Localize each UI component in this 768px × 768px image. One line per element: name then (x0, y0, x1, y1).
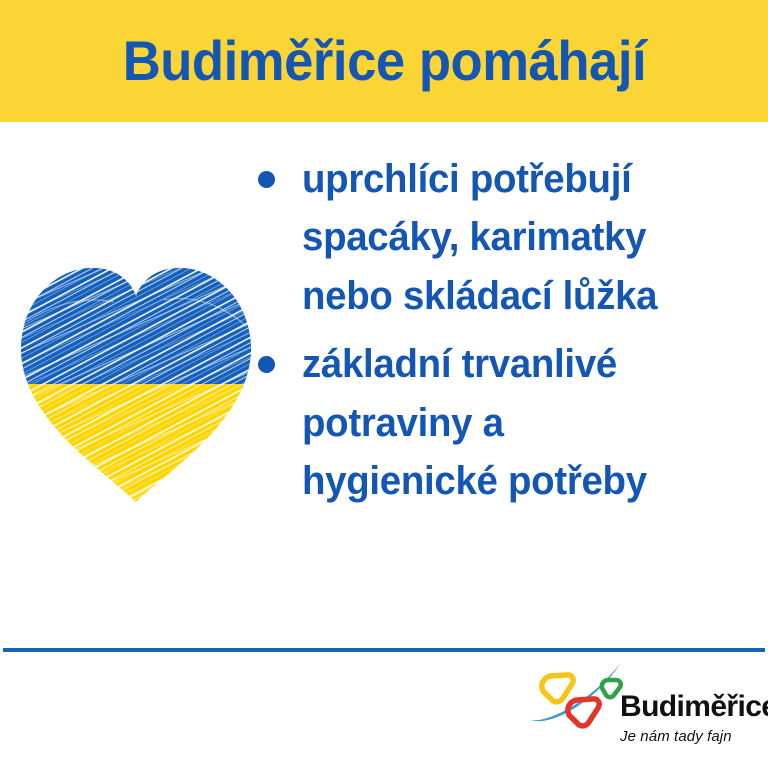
budimerice-logo-mark-icon (528, 662, 630, 734)
bullet-dot-icon (258, 356, 275, 373)
poster-canvas: Budiměřice pomáhají (0, 0, 768, 768)
list-item: základní trvanlivé potraviny a hygienick… (258, 335, 728, 510)
logo-wordmark: Budiměřice Je nám tady fajn (620, 692, 760, 744)
footer-divider (3, 648, 765, 652)
logo-tagline-text: Je nám tady fajn (620, 729, 760, 744)
list-item: uprchlíci potřebují spacáky, karimatky n… (258, 150, 728, 325)
bullet-item-text: uprchlíci potřebují spacáky, karimatky n… (302, 150, 705, 325)
bullet-dot-icon (258, 171, 275, 188)
logo-name-text: Budiměřice (620, 692, 760, 722)
bullet-list: uprchlíci potřebují spacáky, karimatky n… (258, 150, 728, 520)
ukraine-flag-heart-icon (14, 256, 258, 506)
header-band: Budiměřice pomáhají (0, 0, 768, 122)
budimerice-logo: Budiměřice Je nám tady fajn (528, 662, 758, 758)
page-title: Budiměřice pomáhají (122, 33, 645, 89)
bullet-item-text: základní trvanlivé potraviny a hygienick… (302, 335, 705, 510)
